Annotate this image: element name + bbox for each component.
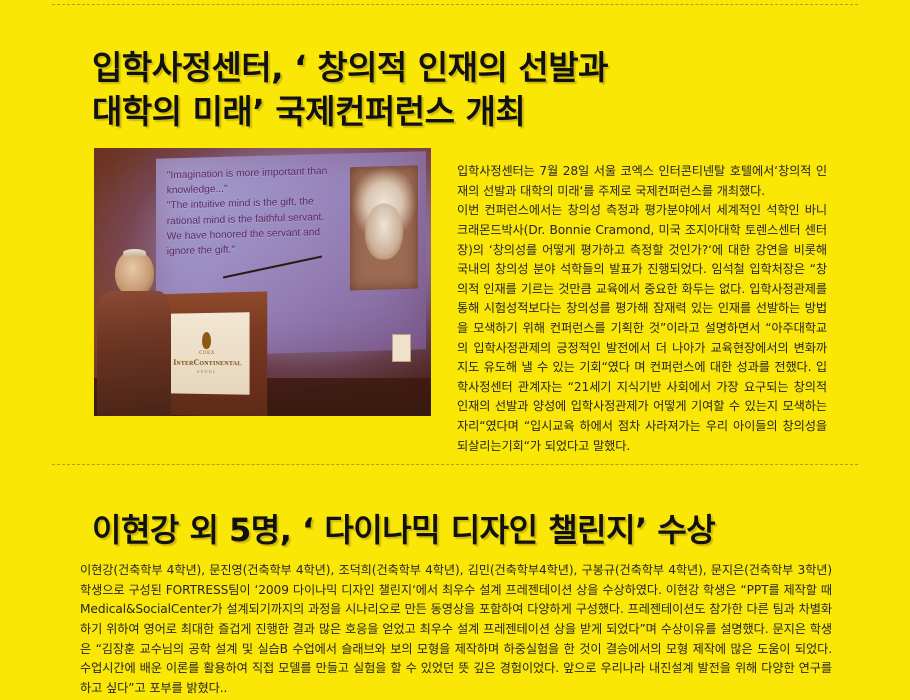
speaker-head (115, 250, 154, 297)
photo-background: "Imagination is more important than know… (94, 148, 431, 416)
speaker-person (97, 250, 171, 416)
projection-slide-text: "Imagination is more important than know… (167, 163, 340, 259)
einstein-portrait-icon (350, 165, 417, 290)
article-two-body: 이현강(건축학부 4학년), 문진영(건축학부 4학년), 조덕희(건축학부 4… (80, 561, 832, 698)
podium-city: SEOUL (197, 369, 217, 374)
exit-sign-icon (392, 334, 411, 363)
divider-top (52, 4, 858, 5)
podium-venue-brand: COEX (199, 351, 215, 356)
podium-hotel-name: InterContinental (173, 358, 241, 367)
intercontinental-logo-icon (202, 332, 211, 349)
article-two-title: 이현강 외 5명, ‘ 다이나믹 디자인 챌린지’ 수상 (92, 509, 852, 551)
divider-middle (52, 464, 858, 465)
speaker-body (97, 291, 171, 416)
article-one-photo: "Imagination is more important than know… (94, 148, 431, 416)
podium-sign: COEX InterContinental SEOUL (165, 312, 249, 395)
article-one-title: 입학사정센터, ‘ 창의적 인재의 선발과 대학의 미래’ 국제컨퍼런스 개최 (92, 46, 852, 134)
article-one-body: 입학사정센터는 7월 28일 서울 코엑스 인터콘티넨탈 호텔에서‘창의적 인재… (457, 162, 827, 456)
newsletter-page: 입학사정센터, ‘ 창의적 인재의 선발과 대학의 미래’ 국제컨퍼런스 개최 … (0, 0, 910, 700)
speaker-hair (123, 249, 146, 256)
